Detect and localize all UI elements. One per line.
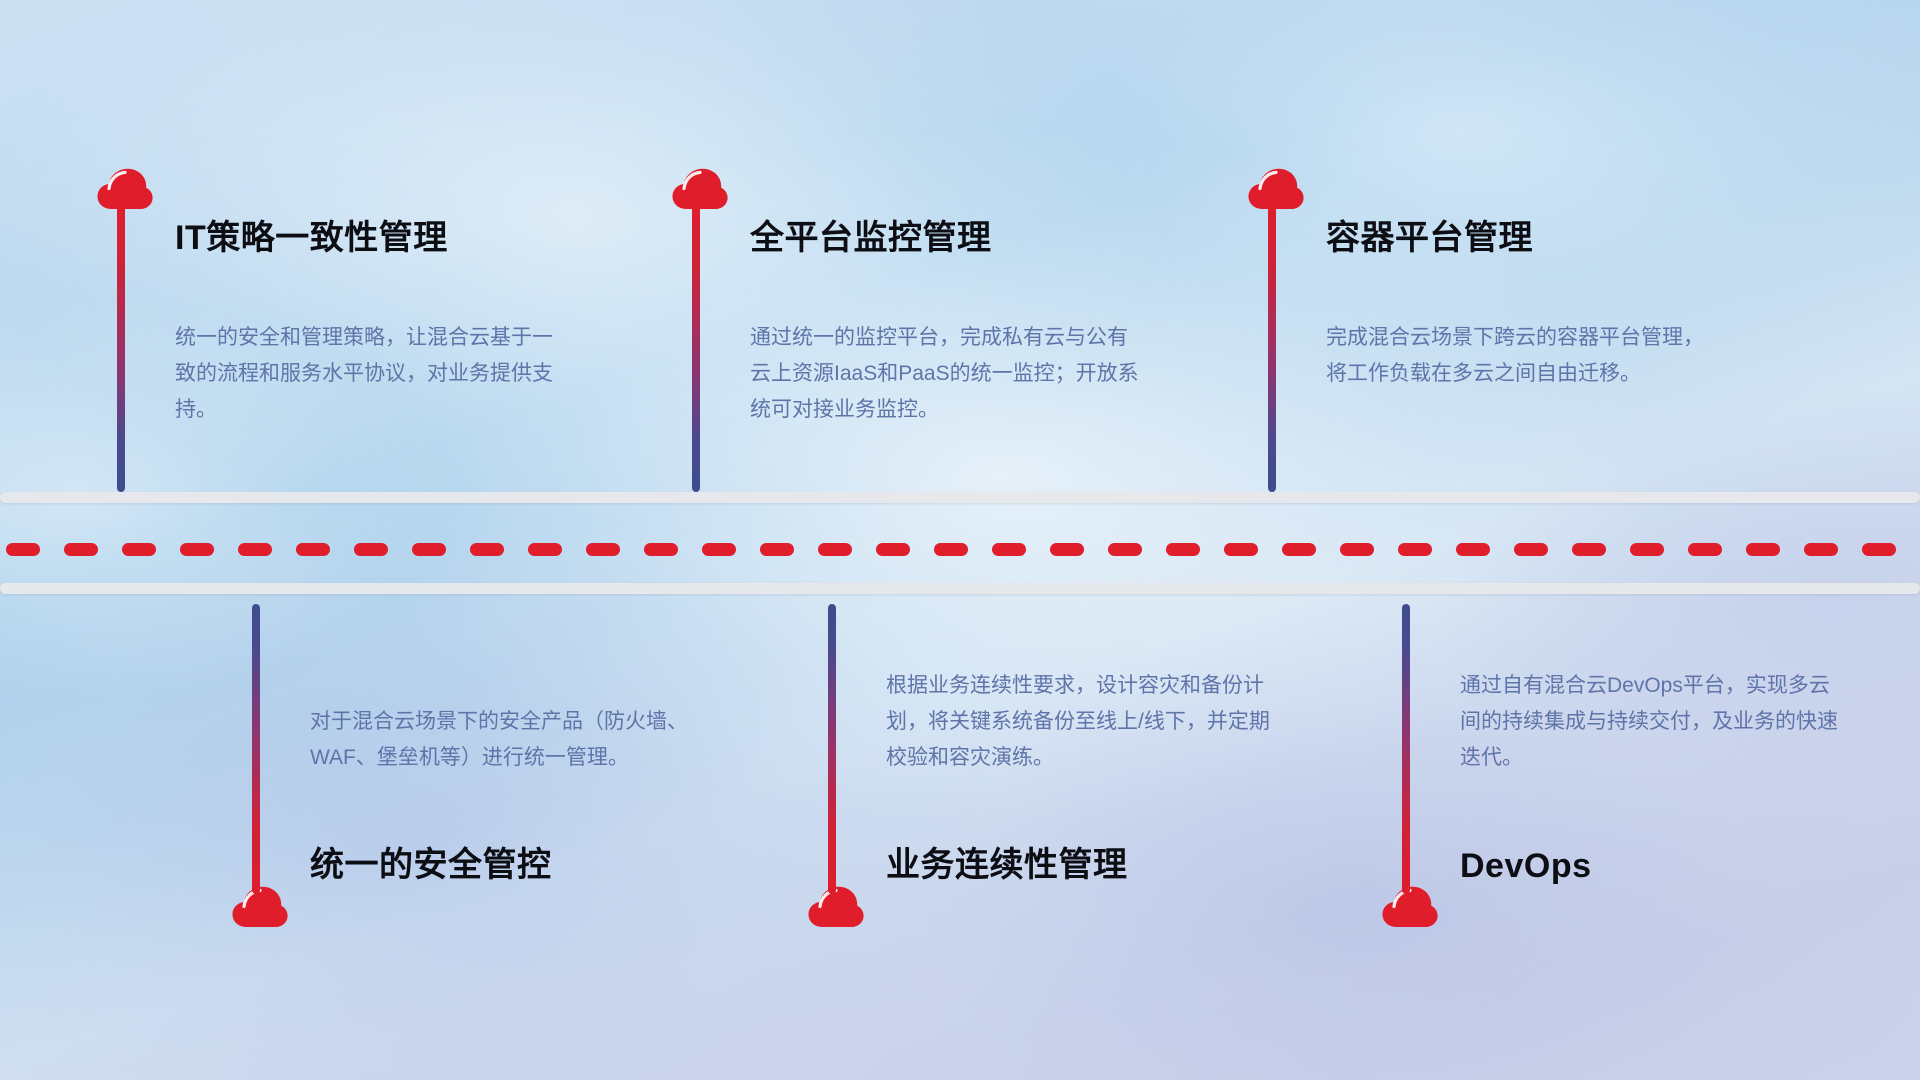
divider-dash: [702, 543, 736, 556]
feature-business-continuity[interactable]: 业务连续性管理 根据业务连续性要求，设计容灾和备份计划，将关键系统备份至线上/线…: [808, 478, 1238, 928]
divider-dash: [6, 543, 40, 556]
divider-dash: [760, 543, 794, 556]
cloud-icon: [1248, 168, 1304, 210]
connector-pole: [1402, 604, 1410, 894]
feature-heading: 统一的安全管控: [310, 837, 552, 886]
cloud-icon: [672, 168, 728, 210]
divider-dash: [122, 543, 156, 556]
connector-pole: [1268, 202, 1276, 492]
cloud-icon: [1382, 886, 1438, 928]
connector-pole: [828, 604, 836, 894]
connector-pole: [252, 604, 260, 894]
infographic-canvas: IT策略一致性管理 统一的安全和管理策略，让混合云基于一致的流程和服务水平协议，…: [0, 0, 1920, 1080]
feature-heading: IT策略一致性管理: [175, 210, 448, 259]
divider-dash: [180, 543, 214, 556]
divider-dash: [64, 543, 98, 556]
feature-heading: 全平台监控管理: [750, 210, 992, 259]
cloud-icon: [97, 168, 153, 210]
cloud-icon: [232, 886, 288, 928]
feature-heading: 业务连续性管理: [886, 837, 1128, 886]
feature-description: 根据业务连续性要求，设计容灾和备份计划，将关键系统备份至线上/线下，并定期校验和…: [886, 668, 1276, 776]
divider-dash: [1282, 543, 1316, 556]
feature-description: 通过统一的监控平台，完成私有云与公有云上资源IaaS和PaaS的统一监控；开放系…: [750, 320, 1140, 428]
feature-description: 通过自有混合云DevOps平台，实现多云间的持续集成与持续交付，及业务的快速迭代…: [1460, 668, 1850, 776]
feature-heading: DevOps: [1460, 847, 1592, 886]
feature-unified-security[interactable]: 统一的安全管控 对于混合云场景下的安全产品（防火墙、WAF、堡垒机等）进行统一管…: [232, 478, 662, 928]
feature-description: 对于混合云场景下的安全产品（防火墙、WAF、堡垒机等）进行统一管理。: [310, 704, 700, 776]
connector-pole: [692, 202, 700, 492]
cloud-icon: [808, 886, 864, 928]
divider-dash: [1862, 543, 1896, 556]
feature-description: 统一的安全和管理策略，让混合云基于一致的流程和服务水平协议，对业务提供支持。: [175, 320, 565, 428]
connector-pole: [117, 202, 125, 492]
feature-description: 完成混合云场景下跨云的容器平台管理，将工作负载在多云之间自由迁移。: [1326, 320, 1716, 392]
divider-dash: [1340, 543, 1374, 556]
feature-heading: 容器平台管理: [1326, 210, 1533, 259]
feature-devops[interactable]: DevOps 通过自有混合云DevOps平台，实现多云间的持续集成与持续交付，及…: [1382, 478, 1812, 928]
